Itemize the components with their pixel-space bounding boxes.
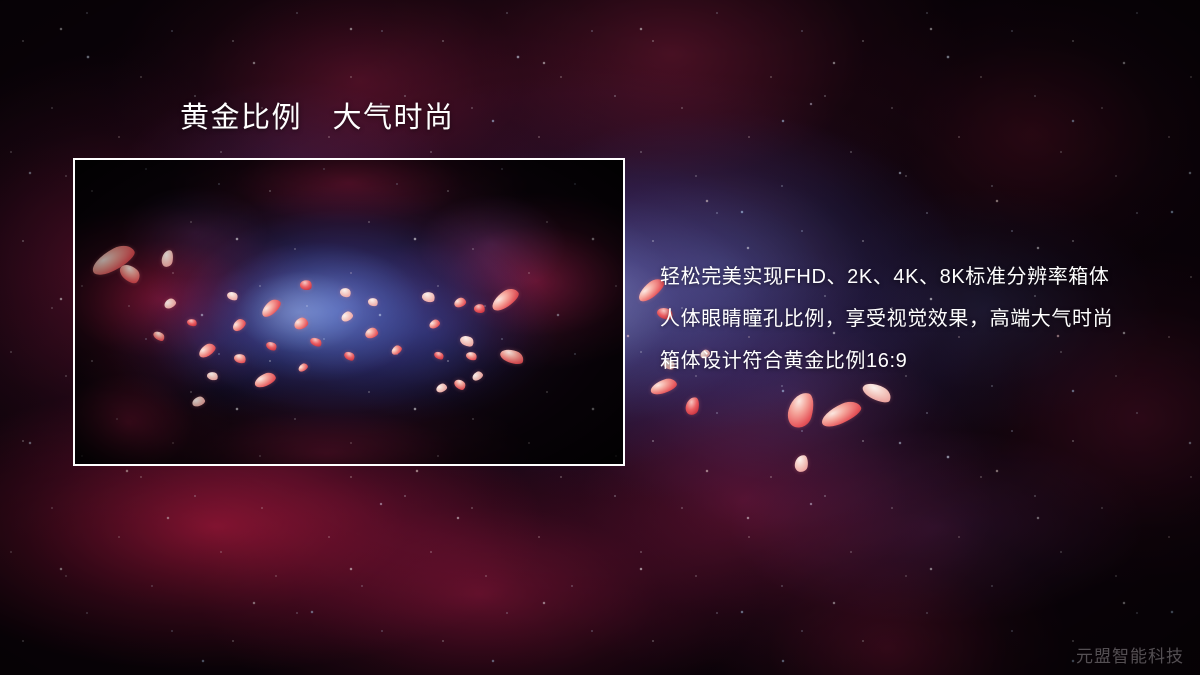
- body-text-block: 轻松完美实现FHD、2K、4K、8K标准分辨率箱体 人体眼睛瞳孔比例，享受视觉效…: [660, 256, 1180, 382]
- panel-nebula-base: [73, 158, 625, 466]
- petal: [473, 303, 486, 314]
- petal: [794, 454, 809, 473]
- presentation-slide: 黄金比例 大气时尚 轻松完美实现FHD、2K、4K、8K标准分辨率箱体 人体眼睛…: [0, 0, 1200, 675]
- petal: [453, 377, 468, 392]
- petal: [684, 396, 700, 416]
- petal: [364, 326, 379, 339]
- petal: [785, 389, 818, 430]
- petal: [163, 297, 178, 310]
- petal: [340, 310, 355, 323]
- body-line-1: 轻松完美实现FHD、2K、4K、8K标准分辨率箱体: [660, 256, 1180, 298]
- petal: [459, 333, 476, 348]
- panel-starfield: [73, 158, 625, 466]
- petal: [343, 350, 357, 363]
- petal: [860, 379, 894, 406]
- petal: [186, 318, 198, 328]
- petal: [265, 340, 279, 352]
- body-line-3: 箱体设计符合黄金比例16:9: [660, 340, 1180, 382]
- petal: [339, 286, 353, 298]
- petal: [435, 382, 448, 393]
- petal: [499, 346, 526, 366]
- petal: [818, 397, 864, 431]
- panel-nebula-blue: [73, 158, 625, 466]
- petal: [465, 350, 478, 362]
- petal: [152, 329, 166, 342]
- petal: [390, 344, 404, 357]
- petal: [259, 296, 284, 319]
- petal: [196, 341, 217, 360]
- petal: [233, 352, 247, 365]
- petal: [433, 350, 445, 361]
- petal: [206, 371, 219, 382]
- petal: [161, 249, 175, 268]
- petal: [453, 296, 467, 308]
- petal: [253, 370, 278, 389]
- petal: [421, 290, 436, 304]
- panel-nebula-violet: [73, 158, 625, 466]
- body-line-2: 人体眼睛瞳孔比例，享受视觉效果，高端大气时尚: [660, 298, 1180, 340]
- framed-image-panel: [73, 158, 625, 466]
- petal: [297, 362, 309, 373]
- petal: [299, 279, 313, 292]
- panel-vignette: [73, 158, 625, 466]
- petal: [88, 240, 138, 279]
- petal: [309, 336, 323, 349]
- petal: [367, 297, 379, 308]
- petal: [226, 290, 239, 302]
- petal: [471, 370, 484, 382]
- petal: [428, 318, 441, 330]
- panel-nebula-red: [73, 158, 625, 466]
- slide-title: 黄金比例 大气时尚: [180, 101, 455, 136]
- petal: [488, 285, 521, 314]
- petal: [117, 261, 143, 287]
- watermark-text: 元盟智能科技: [1076, 642, 1184, 667]
- petal: [230, 317, 247, 333]
- petal: [293, 316, 310, 331]
- petal: [191, 395, 206, 408]
